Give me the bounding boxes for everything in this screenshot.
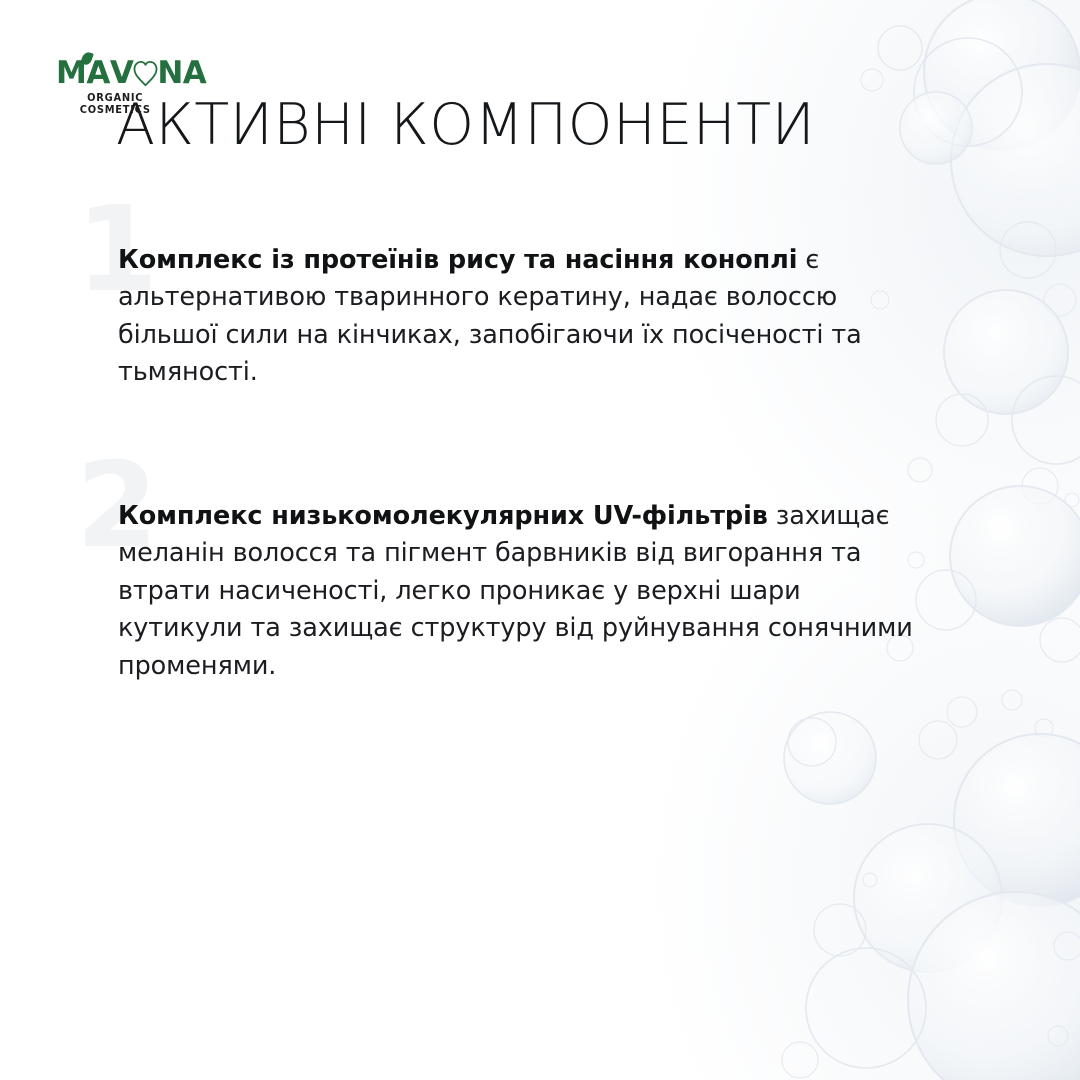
brand-logo[interactable]: MA V NA ORGANIC COSMETICS (56, 58, 206, 116)
ingredient-item-1: 1 Комплекс із протеїнів рису та насіння … (76, 196, 956, 392)
item-paragraph: Комплекс із протеїнів рису та насіння ко… (118, 242, 918, 392)
item-lead-text: Комплекс із протеїнів рису та насіння ко… (118, 245, 797, 275)
logo-word-part-3: NA (157, 58, 206, 89)
item-lead-text: Комплекс низькомолекулярних UV-фільтрів (118, 501, 768, 531)
logo-wordmark: MA V NA (56, 58, 206, 89)
item-body: Комплекс із протеїнів рису та насіння ко… (118, 196, 918, 392)
slide-canvas: MA V NA ORGANIC COSMETICS АКТИВНІ КОМПОН… (0, 0, 1080, 1080)
heart-outline-icon (133, 60, 158, 89)
item-body: Комплекс низькомолекулярних UV-фільтрів … (118, 452, 918, 685)
page-title: АКТИВНІ КОМПОНЕНТИ (116, 96, 815, 155)
logo-word-part-2: V (110, 58, 134, 89)
ingredient-item-2: 2 Комплекс низькомолекулярних UV-фільтрі… (76, 452, 956, 685)
item-paragraph: Комплекс низькомолекулярних UV-фільтрів … (118, 498, 918, 685)
logo-tagline: ORGANIC COSMETICS (56, 92, 174, 116)
